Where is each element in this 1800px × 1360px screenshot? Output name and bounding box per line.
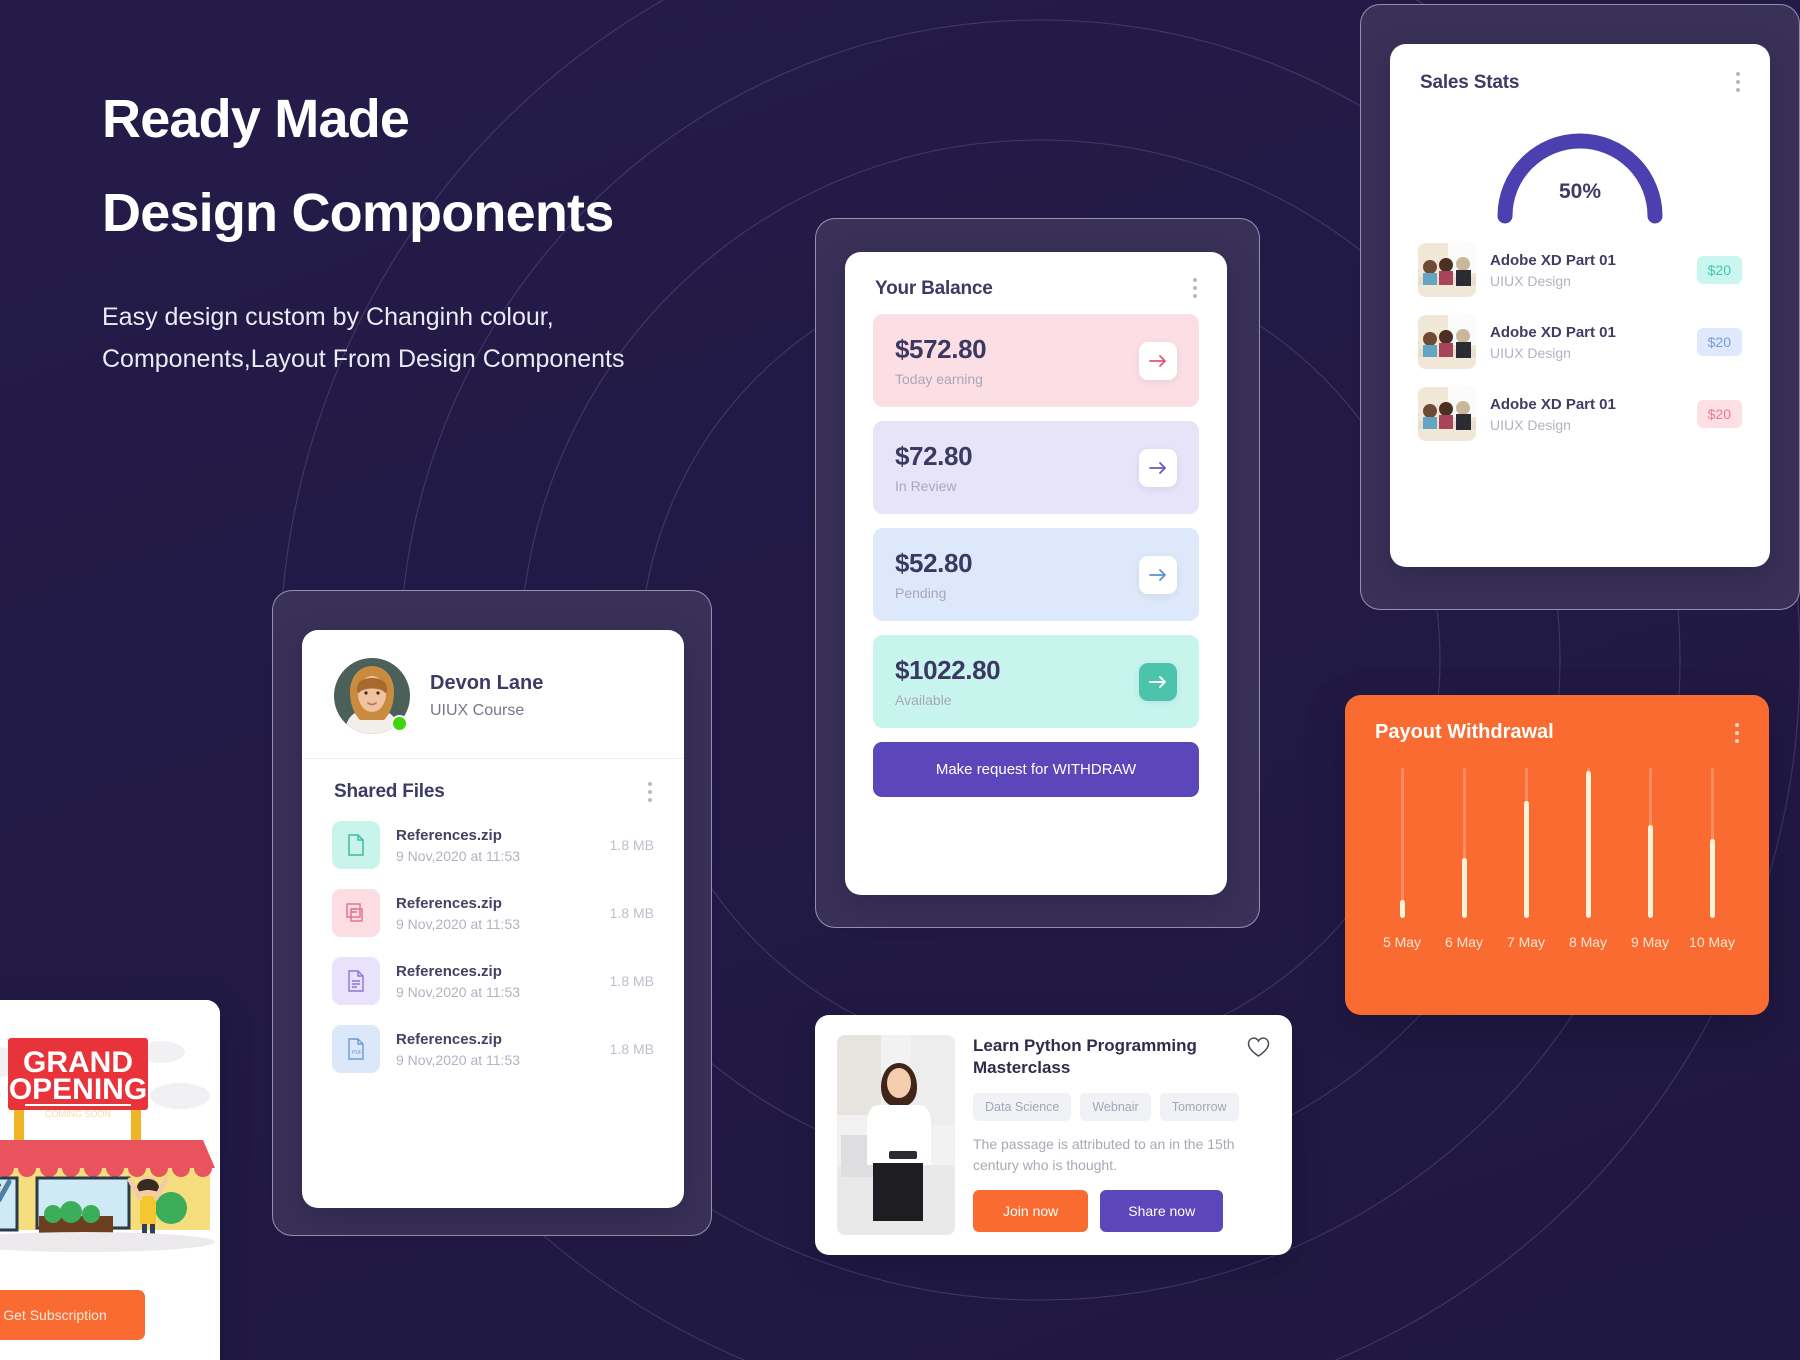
list-item[interactable]: References.zip 9 Nov,2020 at 11:53 1.8 M… [332,811,654,879]
profile-card: Devon Lane UIUX Course Shared Files Refe… [302,630,684,1208]
axis-tick-label: 5 May [1373,934,1431,950]
file-info: References.zip 9 Nov,2020 at 11:53 [396,1031,594,1068]
tag-chip[interactable]: Webnair [1080,1093,1150,1121]
bar-column [1441,768,1487,918]
heart-icon[interactable] [1247,1037,1270,1063]
file-pdf-icon: PDF [332,1025,380,1073]
more-vertical-icon[interactable] [1193,278,1197,298]
balance-label: Today earning [895,371,986,387]
course-category: UIUX Design [1490,345,1683,361]
page-title-line1: Ready Made [102,89,409,149]
arrow-right-icon[interactable] [1139,556,1177,594]
course-name: Adobe XD Part 01 [1490,252,1683,269]
shared-files-title: Shared Files [334,781,445,803]
bar-9-may [1648,825,1653,918]
more-vertical-icon[interactable] [1735,723,1739,743]
classroom-photo [1418,315,1476,369]
bar-8-may [1586,771,1591,918]
balance-label: Available [895,692,1000,708]
course-name: Adobe XD Part 01 [1490,324,1683,341]
list-item[interactable]: PDF References.zip 9 Nov,2020 at 11:53 1… [332,1015,654,1083]
list-item[interactable]: Adobe XD Part 01 UIUX Design $20 [1418,234,1742,306]
balance-row[interactable]: $572.80 Today earning [873,314,1199,407]
payout-withdrawal-card: Payout Withdrawal 5 May 6 May 7 May 8 Ma… [1345,695,1769,1015]
balance-amount: $72.80 [895,441,972,472]
join-now-button[interactable]: Join now [973,1190,1088,1232]
bar-column [1689,768,1735,918]
file-doc-icon [332,889,380,937]
file-date: 9 Nov,2020 at 11:53 [396,1052,594,1068]
file-size: 1.8 MB [610,837,654,853]
payout-bar-chart [1379,768,1735,918]
course-name: Adobe XD Part 01 [1490,396,1683,413]
classroom-photo [1418,243,1476,297]
sign-line-3: COMING SOON [45,1109,111,1119]
shared-files-list: References.zip 9 Nov,2020 at 11:53 1.8 M… [302,807,684,1083]
file-date: 9 Nov,2020 at 11:53 [396,916,594,932]
list-item[interactable]: Adobe XD Part 01 UIUX Design $20 [1418,378,1742,450]
file-name: References.zip [396,963,594,980]
instructor-photo [837,1035,955,1235]
balance-list: $572.80 Today earning $72.80 In Review [845,300,1227,797]
tag-chip[interactable]: Tomorrow [1160,1093,1239,1121]
avatar [334,658,410,734]
profile-header: Devon Lane UIUX Course [302,630,684,759]
more-vertical-icon[interactable] [648,782,652,802]
file-size: 1.8 MB [610,1041,654,1057]
course-image [837,1035,955,1235]
bar-7-may [1524,801,1529,918]
course-description: The passage is attributed to an in the 1… [973,1134,1270,1176]
list-item[interactable]: References.zip 9 Nov,2020 at 11:53 1.8 M… [332,947,654,1015]
profile-role: UIUX Course [430,702,543,720]
gauge-arc-icon [1485,112,1675,224]
file-date: 9 Nov,2020 at 11:53 [396,984,594,1000]
balance-row[interactable]: $52.80 Pending [873,528,1199,621]
axis-tick-label: 8 May [1559,934,1617,950]
axis-tick-label: 7 May [1497,934,1555,950]
course-price-badge: $20 [1697,400,1742,428]
balance-amount: $52.80 [895,548,972,579]
payout-title: Payout Withdrawal [1375,721,1554,744]
file-name: References.zip [396,895,594,912]
sales-stats-list: Adobe XD Part 01 UIUX Design $20 [1390,224,1770,450]
sales-gauge: 50% [1390,112,1770,224]
profile-info: Devon Lane UIUX Course [430,672,543,720]
file-name: References.zip [396,827,594,844]
classroom-photo [1418,387,1476,441]
balance-label: In Review [895,478,972,494]
balance-header: Your Balance [845,252,1227,300]
balance-row[interactable]: $1022.80 Available [873,635,1199,728]
bar-5-may [1400,900,1405,918]
course-info: Adobe XD Part 01 UIUX Design [1490,324,1683,361]
withdraw-request-button[interactable]: Make request for WITHDRAW [873,742,1199,797]
sign-line-2: OPENING [9,1073,147,1106]
share-now-button[interactable]: Share now [1100,1190,1223,1232]
page-title: Ready Made Design Components [102,88,742,245]
arrow-right-icon[interactable] [1139,342,1177,380]
arrow-right-icon[interactable] [1139,663,1177,701]
balance-row[interactable]: $72.80 In Review [873,421,1199,514]
course-tags: Data Science Webnair Tomorrow [973,1093,1270,1121]
course-thumbnail [1418,387,1476,441]
payout-x-axis-labels: 5 May 6 May 7 May 8 May 9 May 10 May [1373,934,1741,950]
axis-tick-label: 9 May [1621,934,1679,950]
course-thumbnail [1418,243,1476,297]
course-price-badge: $20 [1697,328,1742,356]
poster-canvas: Ready Made Design Components Easy design… [0,0,1800,1360]
gauge-percent-label: 50% [1390,180,1770,204]
get-subscription-button[interactable]: Get Subscription [0,1290,145,1340]
course-info: Adobe XD Part 01 UIUX Design [1490,396,1683,433]
balance-card: Your Balance $572.80 Today earning $72.8… [845,252,1227,895]
balance-amount: $1022.80 [895,655,1000,686]
axis-tick-label: 6 May [1435,934,1493,950]
bar-6-may [1462,858,1467,918]
hero-subtitle: Easy design custom by Changinh colour, C… [102,297,742,380]
file-info: References.zip 9 Nov,2020 at 11:53 [396,827,594,864]
bar-column [1627,768,1673,918]
more-vertical-icon[interactable] [1736,72,1740,92]
bar-column [1503,768,1549,918]
file-name: References.zip [396,1031,594,1048]
course-title: Learn Python Programming Masterclass [973,1035,1270,1079]
course-thumbnail [1418,315,1476,369]
course-category: UIUX Design [1490,417,1683,433]
shared-files-header: Shared Files [302,759,684,807]
shop-illustration: GRAND OPENING COMING SOON [0,1000,220,1260]
status-badge [391,715,408,732]
payout-header: Payout Withdrawal [1345,695,1769,744]
bar-10-may [1710,839,1715,919]
svg-text:PDF: PDF [352,1050,362,1056]
file-date: 9 Nov,2020 at 11:53 [396,848,594,864]
hero-section: Ready Made Design Components Easy design… [102,88,742,380]
course-price-badge: $20 [1697,256,1742,284]
balance-title: Your Balance [875,278,993,300]
file-blank-icon [332,821,380,869]
page-title-line2: Design Components [102,182,742,246]
file-info: References.zip 9 Nov,2020 at 11:53 [396,895,594,932]
arrow-right-icon[interactable] [1139,449,1177,487]
axis-tick-label: 10 May [1683,934,1741,950]
file-text-icon [332,957,380,1005]
list-item[interactable]: Adobe XD Part 01 UIUX Design $20 [1418,306,1742,378]
subscription-promo-card: GRAND OPENING COMING SOON [0,1000,220,1360]
course-promo-card: Learn Python Programming Masterclass Dat… [815,1015,1292,1255]
file-info: References.zip 9 Nov,2020 at 11:53 [396,963,594,1000]
course-category: UIUX Design [1490,273,1683,289]
sales-stats-card: Sales Stats 50% [1390,44,1770,567]
bar-column [1565,768,1611,918]
balance-amount: $572.80 [895,334,986,365]
sales-stats-header: Sales Stats [1390,44,1770,94]
profile-name: Devon Lane [430,672,543,695]
file-size: 1.8 MB [610,905,654,921]
course-info: Adobe XD Part 01 UIUX Design [1490,252,1683,289]
sales-stats-title: Sales Stats [1420,72,1519,94]
bar-column [1379,768,1425,918]
tag-chip[interactable]: Data Science [973,1093,1071,1121]
grand-opening-illustration: GRAND OPENING COMING SOON [0,1000,220,1260]
list-item[interactable]: References.zip 9 Nov,2020 at 11:53 1.8 M… [332,879,654,947]
file-size: 1.8 MB [610,973,654,989]
balance-label: Pending [895,585,972,601]
